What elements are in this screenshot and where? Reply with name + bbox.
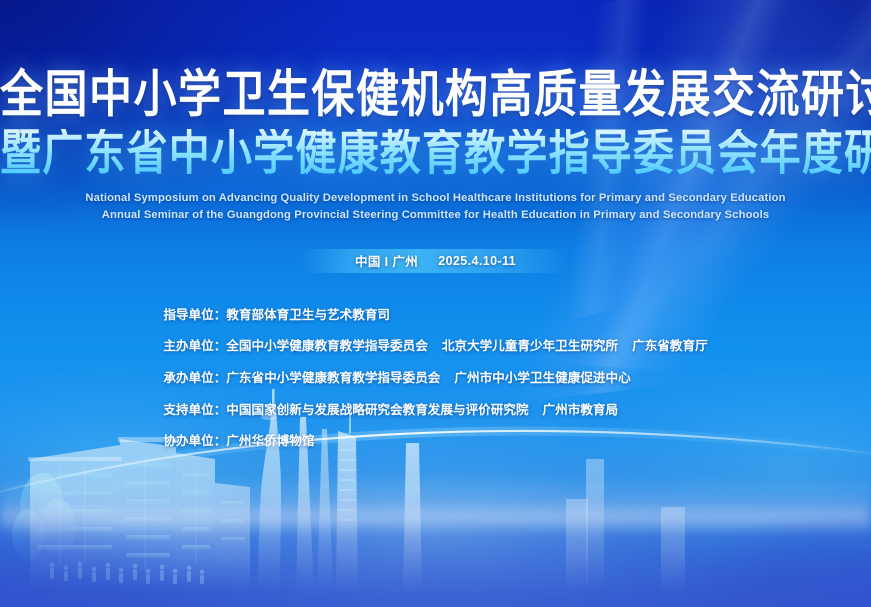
meta-bar-wrapper: 中国 I 广州 2025.4.10-11 [0,249,871,273]
organizer-label: 指导单位： [163,308,226,322]
organizer-list: 指导单位：教育部体育卫生与艺术教育司 主办单位：全国中小学健康教育教学指导委员会… [163,309,707,448]
organizer-items: 全国中小学健康教育教学指导委员会北京大学儿童青少年卫生研究所广东省教育厅 [226,339,707,353]
organizer-items: 广东省中小学健康教育教学指导委员会广州市中小学卫生健康促进中心 [226,371,630,385]
poster-title-chinese-primary: 全国中小学卫生保健机构高质量发展交流研讨活动 [0,70,871,121]
location-date-bar: 中国 I 广州 2025.4.10-11 [301,249,571,273]
organizer-label: 承办单位： [163,371,226,385]
organizer-row: 协办单位：广州华侨博物馆 [163,435,707,448]
poster-content: 全国中小学卫生保健机构高质量发展交流研讨活动 暨广东省中小学健康教育教学指导委员… [0,0,871,450]
organizer-items: 中国国家创新与发展战略研究会教育发展与评价研究院广州市教育局 [226,403,618,417]
event-location: 中国 I 广州 [355,251,418,270]
organizer-items: 广州华侨博物馆 [226,434,314,448]
organizer-item: 广州市中小学卫生健康促进中心 [454,371,630,385]
poster-subtitle-english-line1: National Symposium on Advancing Quality … [0,190,871,207]
organizer-row: 支持单位：中国国家创新与发展战略研究会教育发展与评价研究院广州市教育局 [163,404,707,436]
organizer-row: 承办单位：广东省中小学健康教育教学指导委员会广州市中小学卫生健康促进中心 [163,372,707,404]
conference-poster: 全国中小学卫生保健机构高质量发展交流研讨活动 暨广东省中小学健康教育教学指导委员… [0,0,871,607]
organizer-items: 教育部体育卫生与艺术教育司 [226,308,390,322]
poster-title-chinese-secondary: 暨广东省中小学健康教育教学指导委员会年度研讨活动 [0,129,871,177]
organizer-label: 主办单位： [163,339,226,353]
organizer-item: 教育部体育卫生与艺术教育司 [226,308,390,322]
organizer-item: 广东省中小学健康教育教学指导委员会 [226,371,440,385]
organizer-item: 广州华侨博物馆 [226,434,314,448]
organizer-label: 协办单位： [163,434,226,448]
event-date: 2025.4.10-11 [438,254,516,268]
organizer-item: 中国国家创新与发展战略研究会教育发展与评价研究院 [226,403,528,417]
poster-subtitle-english-line2: Annual Seminar of the Guangdong Provinci… [0,207,871,224]
organizer-label: 支持单位： [163,403,226,417]
organizer-item: 广州市教育局 [543,403,619,417]
organizer-item: 广东省教育厅 [632,339,708,353]
organizer-item: 北京大学儿童青少年卫生研究所 [442,339,618,353]
organizer-row: 主办单位：全国中小学健康教育教学指导委员会北京大学儿童青少年卫生研究所广东省教育… [163,340,707,372]
organizer-row: 指导单位：教育部体育卫生与艺术教育司 [163,309,707,341]
organizer-item: 全国中小学健康教育教学指导委员会 [226,339,428,353]
